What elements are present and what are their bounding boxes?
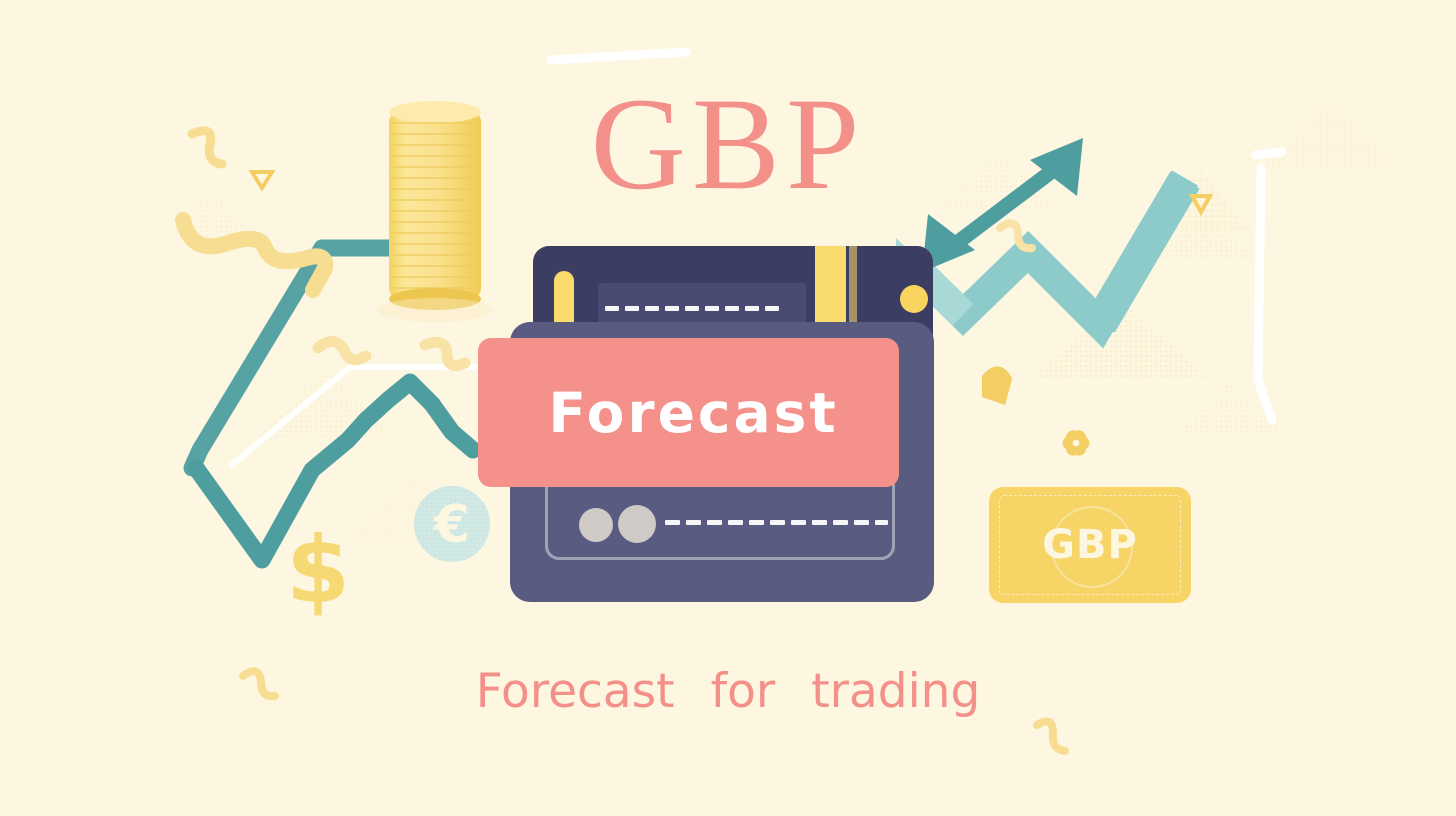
svg-text:€: € xyxy=(433,495,470,555)
front-card-dashed-line xyxy=(665,520,890,525)
back-card-dashed-line xyxy=(605,306,783,311)
flower-shape xyxy=(1063,430,1090,455)
coin-stack xyxy=(377,101,493,322)
forecast-banner: Forecast xyxy=(478,338,899,487)
gbp-banknote: GBP xyxy=(989,487,1191,603)
dollar-sign: $ xyxy=(286,517,350,624)
front-card-chip-left xyxy=(579,508,613,542)
front-card-chip-right xyxy=(618,505,656,543)
poster-canvas: € $ xyxy=(0,0,1456,816)
euro-coin: € xyxy=(414,486,490,562)
back-card-yellow-dot-large xyxy=(900,285,928,313)
svg-text:$: $ xyxy=(286,517,350,624)
banknote-label: GBP xyxy=(989,487,1191,603)
forecast-banner-label: Forecast xyxy=(538,381,838,445)
